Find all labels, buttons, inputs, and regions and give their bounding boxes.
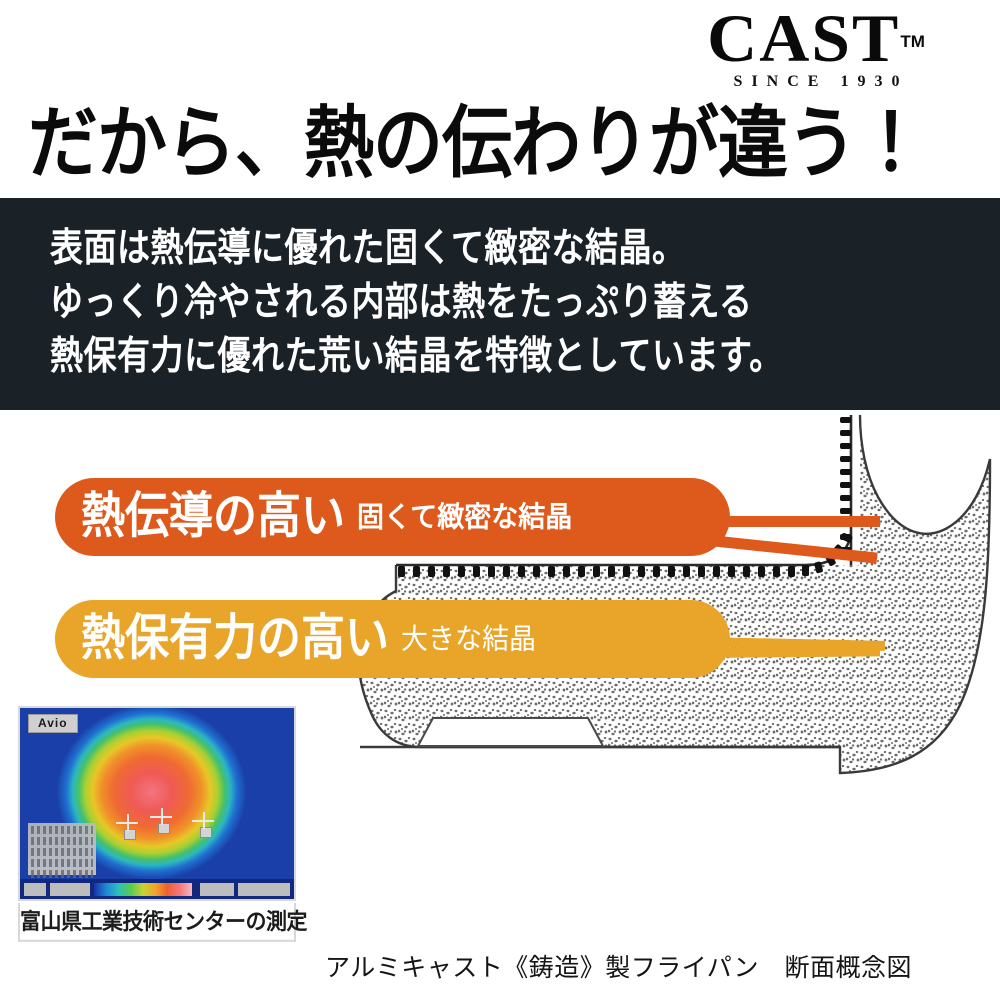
thermal-scale-high — [200, 883, 234, 896]
thermal-scale-min — [24, 883, 46, 896]
thermal-image-caption: 富山県工業技術センターの測定 — [18, 903, 296, 942]
thermal-measure-point-2 — [150, 808, 176, 834]
thermal-scale-max — [238, 883, 290, 896]
logo-word-cast: CAST — [707, 6, 900, 71]
trademark-symbol: TM — [900, 32, 925, 51]
pan-coating-ticks-wall — [840, 417, 851, 553]
thermal-image: Avio — [18, 706, 296, 901]
callout-orange-main-label: 熱伝導の高い — [81, 492, 345, 541]
thermal-measure-point-1 — [116, 814, 142, 840]
callout-yellow-main-label: 熱保有力の高い — [81, 614, 389, 663]
diagram-caption: アルミキャスト《鋳造》製フライパン 断面概念図 — [325, 948, 912, 984]
thermal-readout-panel — [28, 823, 96, 875]
description-line-2: ゆっくり冷やされる内部は熱をたっぷり蓄える — [50, 282, 753, 321]
thermal-scale-low — [50, 883, 90, 896]
page-title: だから、熱の伝わりが違う！ — [28, 104, 925, 182]
description-panel: 表面は熱伝導に優れた固くて緻密な結晶。 ゆっくり冷やされる内部は熱をたっぷり蓄え… — [0, 198, 1000, 410]
thermal-device-label: Avio — [28, 714, 78, 733]
callout-yellow-sub-label: 大きな結晶 — [401, 625, 536, 653]
callout-orange-sub-label: 固くて緻密な結晶 — [357, 503, 572, 531]
brand-logo: CASTTM SINCE 1930 — [652, 6, 982, 91]
callout-thermal-conductivity: 熱伝導の高い 固くて緻密な結晶 — [55, 478, 730, 556]
description-line-1: 表面は熱伝導に優れた固くて緻密な結晶。 — [50, 228, 686, 267]
callout-heat-retention: 熱保有力の高い 大きな結晶 — [55, 600, 730, 678]
thermal-scale-bar — [20, 879, 294, 899]
thermal-spectrum-gradient — [94, 883, 192, 896]
thermal-measure-point-3 — [192, 812, 218, 838]
description-line-3: 熱保有力に優れた荒い結晶を特徴としています。 — [50, 336, 783, 375]
pan-foot-notch — [418, 718, 603, 746]
thermal-image-inner: Avio — [20, 708, 294, 899]
logo-wordmark: CASTTM — [652, 6, 982, 71]
poster-page: CASTTM SINCE 1930 だから、熱の伝わりが違う！ 表面は熱伝導に優… — [0, 0, 1000, 1000]
